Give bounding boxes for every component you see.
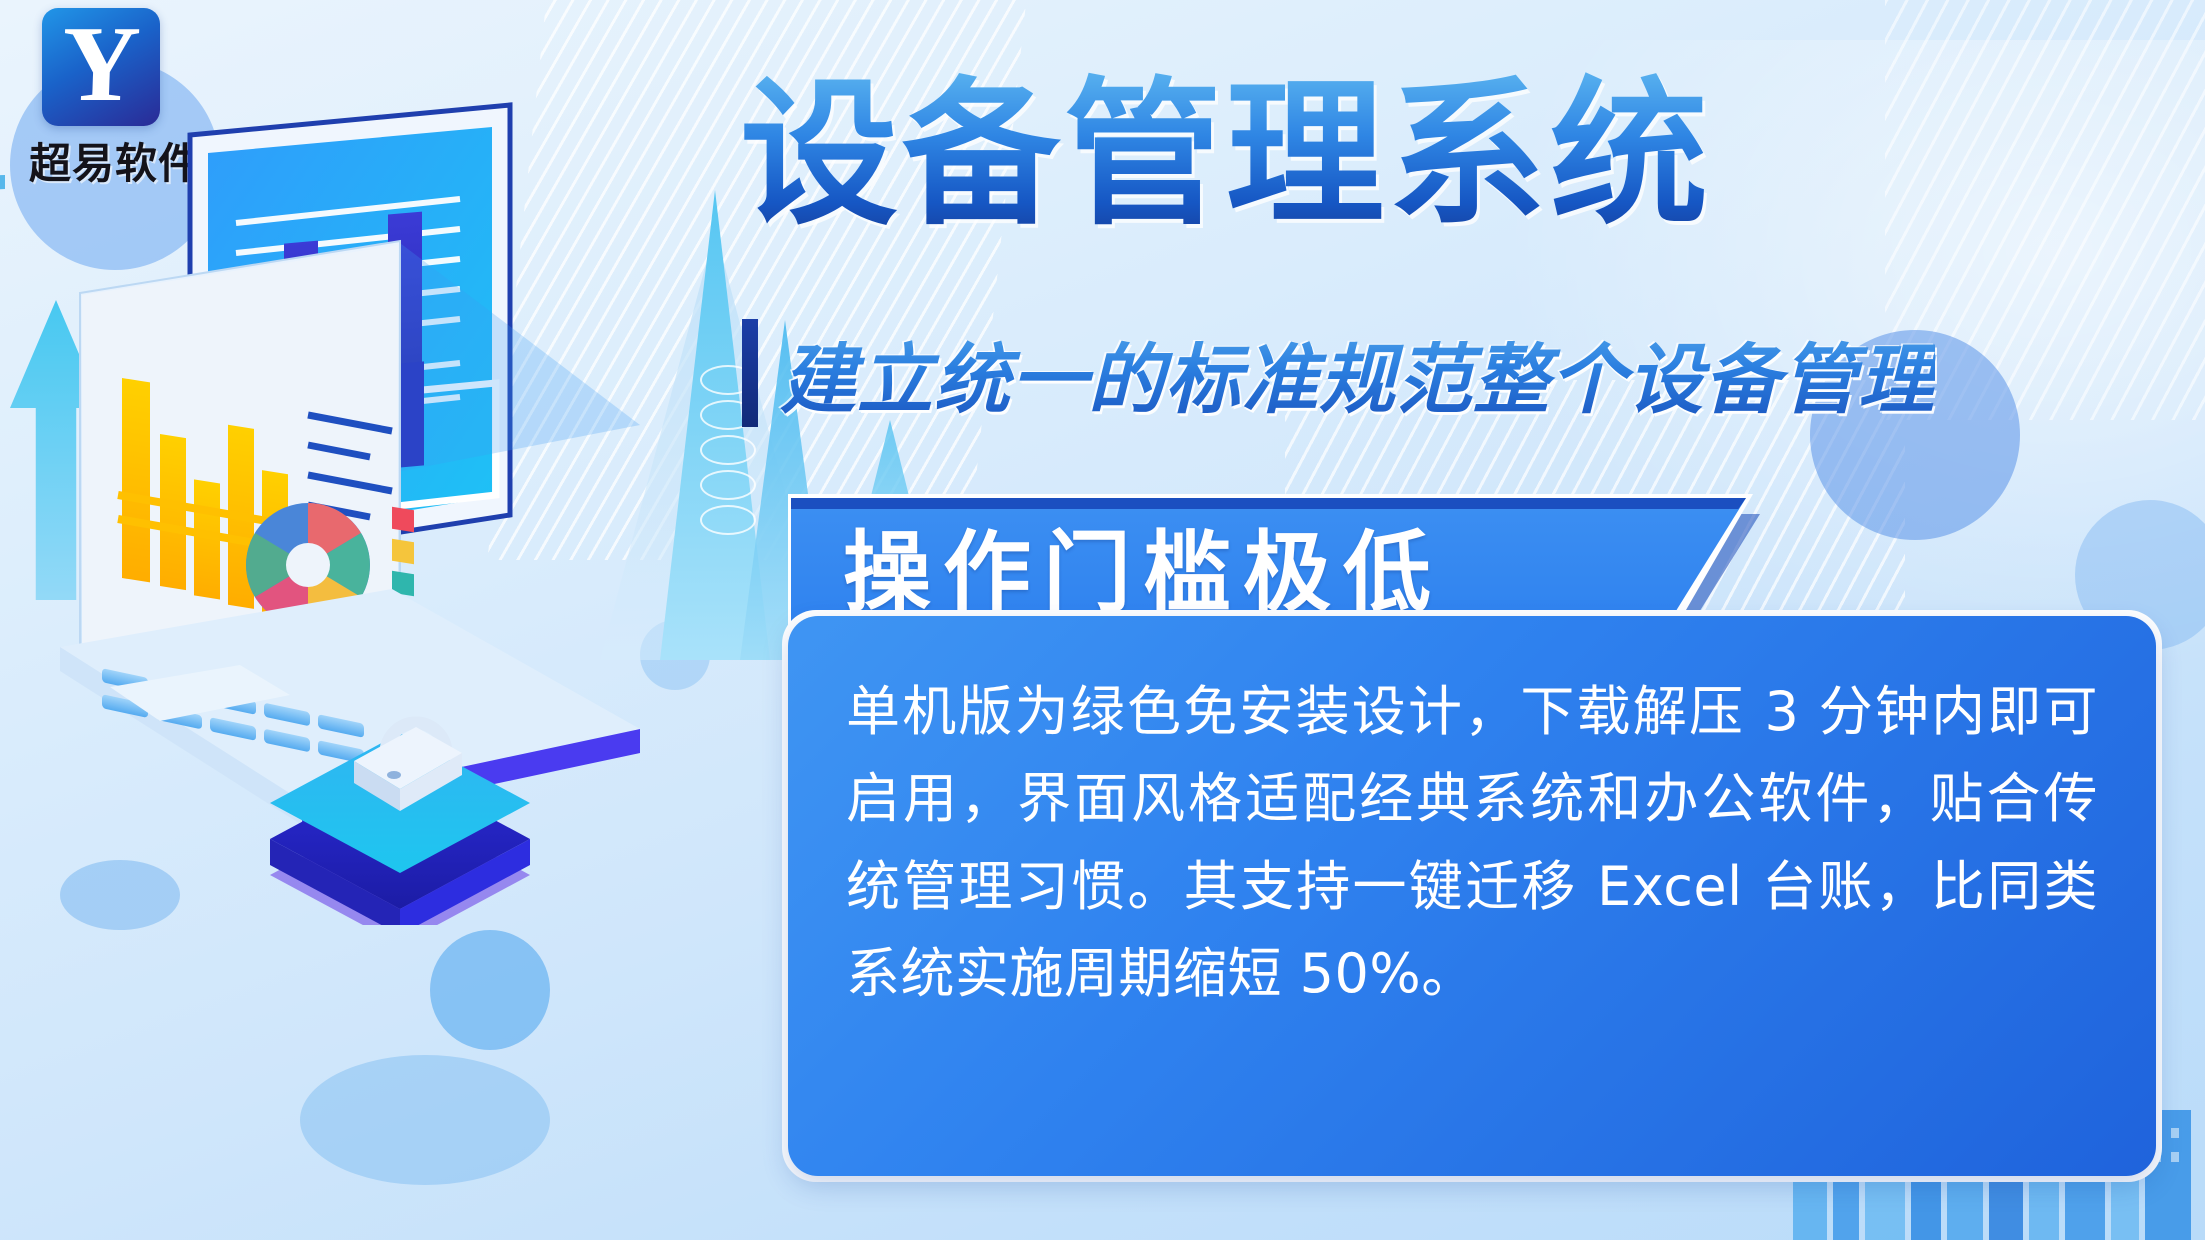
- subtitle-row: 建立统一的标准规范整个设备管理: [742, 318, 1935, 428]
- page-title: 设备管理系统: [740, 72, 1712, 239]
- ribbon-top-border: [791, 498, 1746, 509]
- decor-circle: [300, 1055, 550, 1185]
- feature-card: 单机版为绿色免安装设计，下载解压 3 分钟内即可启用，界面风格适配经典系统和办公…: [788, 616, 2156, 1176]
- decor-circle: [430, 930, 550, 1050]
- subtitle-accent-bar: [742, 319, 758, 427]
- page-subtitle: 建立统一的标准规范整个设备管理: [780, 318, 1935, 428]
- poster-canvas: Y 超易软件: [0, 0, 2205, 1240]
- feature-card-body: 单机版为绿色免安装设计，下载解压 3 分钟内即可启用，界面风格适配经典系统和办公…: [846, 668, 2098, 1018]
- isometric-illustration: [40, 95, 760, 925]
